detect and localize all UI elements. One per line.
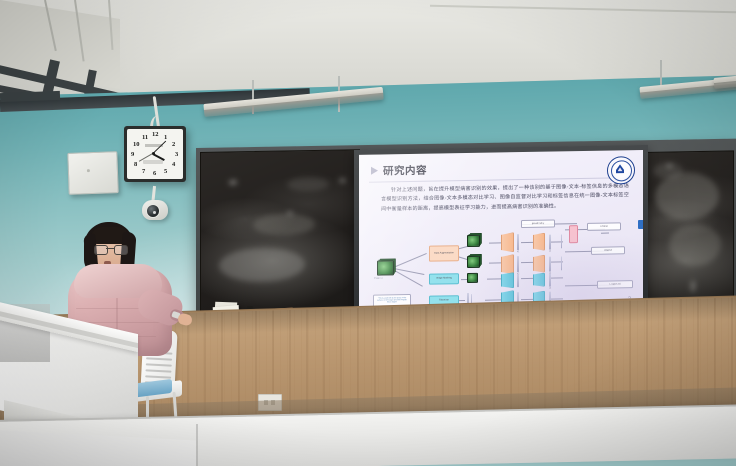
diagram-node-image-masking: Image Masking xyxy=(429,273,459,285)
slide-title: 研究内容 xyxy=(383,163,427,179)
diagram-node-ground-truth: ground truth y xyxy=(521,219,555,228)
security-camera xyxy=(142,200,168,220)
diagram-node-data-augmentation: Data Augmentation xyxy=(429,245,459,262)
clock-numeral: 6 xyxy=(153,170,156,177)
clock-numeral: 3 xyxy=(175,151,178,158)
diagram-loss-cls: Lcls(z,y) xyxy=(587,222,621,231)
clock-numeral: 8 xyxy=(134,161,137,168)
diagram-feature-label: z3 xyxy=(549,288,551,290)
diagram-node-aug-view-2 xyxy=(467,256,480,268)
clock-center-pin xyxy=(152,152,155,155)
chalkboard-left xyxy=(200,149,360,330)
diagram-node-image-encoder-2 xyxy=(501,254,514,274)
diagram-label-image-input: Image x_i xyxy=(374,277,383,279)
wall-clock: 12 1 2 3 4 5 6 7 8 9 10 11 xyxy=(124,96,190,206)
diagram-node-masked-view xyxy=(467,273,478,283)
diagram-feature-label: z1 xyxy=(549,251,551,253)
slide-title-row: 研究内容 xyxy=(371,161,551,180)
glasses-lens-left xyxy=(94,245,108,255)
clock-numeral: 11 xyxy=(142,134,148,141)
diagram-node-aug-view-1 xyxy=(467,235,480,247)
lens-glint xyxy=(153,211,156,214)
diagram-loss-img: Limg(z,z) xyxy=(591,246,625,255)
diagram-feature-label: h1 xyxy=(517,251,519,253)
glasses-icon xyxy=(94,245,126,253)
clock-numeral: 9 xyxy=(131,151,134,158)
glasses-bridge xyxy=(106,248,114,249)
wifi-access-point xyxy=(67,151,118,195)
suspended-linear-lamp-right-far xyxy=(713,75,736,89)
clock-face: 12 1 2 3 4 5 6 7 8 9 10 11 xyxy=(127,129,183,179)
diagram-node-image-encoder-3 xyxy=(501,272,514,288)
display-side-port xyxy=(638,220,643,229)
slide-paragraph: 针对上述问题，旨在提升模型病害识别的效果，提出了一种该别的基于图像-文本-标签信… xyxy=(381,182,629,214)
diagram-feature-label: h2 xyxy=(517,273,519,275)
diagram-node-image-input xyxy=(377,260,394,275)
clock-numeral: 10 xyxy=(133,141,140,148)
university-seal-logo xyxy=(607,156,635,184)
clock-numeral: 5 xyxy=(164,168,167,175)
desk-seam xyxy=(196,424,198,466)
diagram-loss-sup: L_sup(z1,z2) xyxy=(597,280,633,289)
slide-body-text: 针对上述问题，旨在提升模型病害识别的效果，提出了一种该别的基于图像-文本-标签信… xyxy=(381,182,629,214)
bullet-triangle-icon xyxy=(371,167,378,175)
clock-numeral: 2 xyxy=(172,141,175,148)
lectern xyxy=(0,282,150,432)
diagram-node-projection-3 xyxy=(533,273,545,287)
clock-numeral: 4 xyxy=(172,161,175,168)
diagram-node-image-encoder-1 xyxy=(501,232,514,252)
diagram-node-projection-1 xyxy=(533,233,545,251)
clock-subdial xyxy=(143,160,163,164)
glasses-lens-right xyxy=(114,245,128,255)
diagram-node-classifier xyxy=(569,225,578,243)
clock-numeral: 12 xyxy=(152,131,159,138)
diagram-node-projection-2 xyxy=(533,255,545,273)
clock-numeral: 7 xyxy=(142,168,145,175)
clock-frame: 12 1 2 3 4 5 6 7 8 9 10 11 xyxy=(124,126,186,182)
lamp-suspension-wire xyxy=(660,60,662,88)
diagram-feature-label: z2 xyxy=(549,273,551,275)
ceiling-seam xyxy=(430,5,736,13)
slide-screen[interactable]: 研究内容 针对上述问题，旨在提升模型病害识别的效果，提出了一种该别的基于图像-文… xyxy=(359,150,643,323)
classroom-scene: 12 1 2 3 4 5 6 7 8 9 10 11 xyxy=(0,0,736,466)
status-led xyxy=(87,169,90,172)
camera-lens-icon xyxy=(146,204,160,218)
